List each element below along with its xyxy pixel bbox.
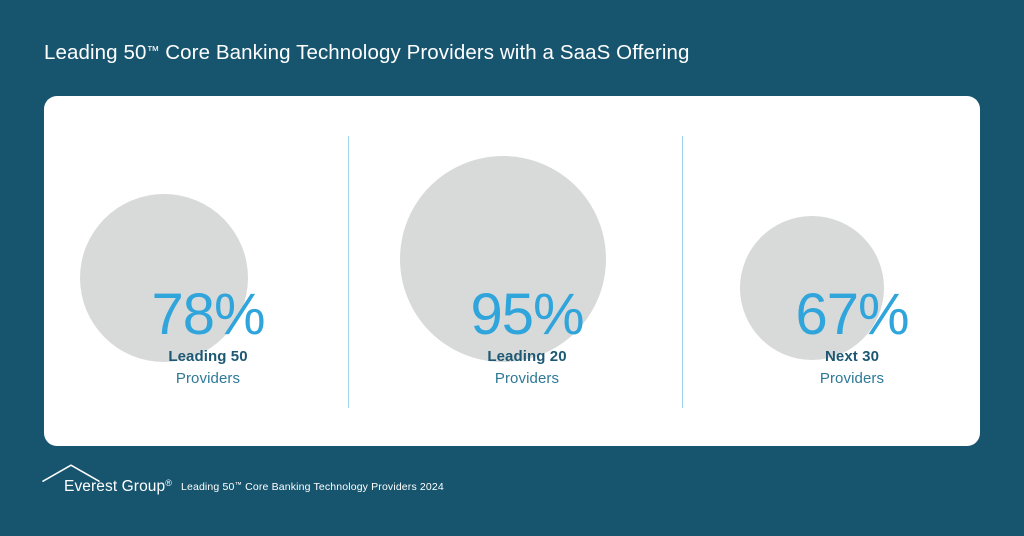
trademark-symbol: ™ bbox=[146, 43, 159, 58]
percent-symbol-next-30: % bbox=[858, 282, 909, 347]
stat-value-next-30: 67% bbox=[752, 287, 952, 342]
stat-number-leading-20: 95 bbox=[470, 282, 533, 347]
page-title-text-before: Leading 50 bbox=[44, 41, 146, 64]
mountain-peak-icon bbox=[42, 464, 102, 482]
footer: Everest Group® Leading 50™ Core Banking … bbox=[44, 462, 444, 496]
stat-block-leading-20: 95% Leading 20 Providers bbox=[427, 287, 627, 386]
stat-sublabel-next-30: Providers bbox=[752, 371, 952, 386]
stat-sublabel-leading-50: Providers bbox=[108, 371, 308, 386]
registered-symbol: ® bbox=[165, 478, 172, 488]
stat-block-next-30: 67% Next 30 Providers bbox=[752, 287, 952, 386]
footer-caption: Leading 50™ Core Banking Technology Prov… bbox=[172, 480, 444, 496]
stat-panel-next-30: 67% Next 30 Providers bbox=[683, 96, 980, 446]
footer-trademark-symbol: ™ bbox=[234, 480, 242, 489]
stat-label-next-30: Next 30 bbox=[752, 349, 952, 364]
stat-block-leading-50: 78% Leading 50 Providers bbox=[108, 287, 308, 386]
percent-symbol-leading-20: % bbox=[533, 282, 584, 347]
footer-caption-after: Core Banking Technology Providers 2024 bbox=[242, 481, 444, 493]
stat-sublabel-leading-20: Providers bbox=[427, 371, 627, 386]
page-title-text-after: Core Banking Technology Providers with a… bbox=[159, 41, 689, 64]
stat-number-leading-50: 78 bbox=[151, 282, 214, 347]
stat-panel-leading-50: 78% Leading 50 Providers bbox=[44, 96, 348, 446]
stat-label-leading-20: Leading 20 bbox=[427, 349, 627, 364]
content-card: 78% Leading 50 Providers 95% Leading 20 … bbox=[44, 96, 980, 446]
slide: Leading 50™ Core Banking Technology Prov… bbox=[0, 0, 1024, 536]
stat-label-leading-50: Leading 50 bbox=[108, 349, 308, 364]
everest-group-logo: Everest Group® bbox=[44, 464, 172, 496]
stat-value-leading-50: 78% bbox=[108, 287, 308, 342]
footer-caption-before: Leading 50 bbox=[181, 481, 234, 493]
percent-symbol-leading-50: % bbox=[214, 282, 265, 347]
stat-panel-leading-20: 95% Leading 20 Providers bbox=[349, 96, 682, 446]
page-title: Leading 50™ Core Banking Technology Prov… bbox=[44, 41, 690, 65]
stat-number-next-30: 67 bbox=[795, 282, 858, 347]
stat-value-leading-20: 95% bbox=[427, 287, 627, 342]
